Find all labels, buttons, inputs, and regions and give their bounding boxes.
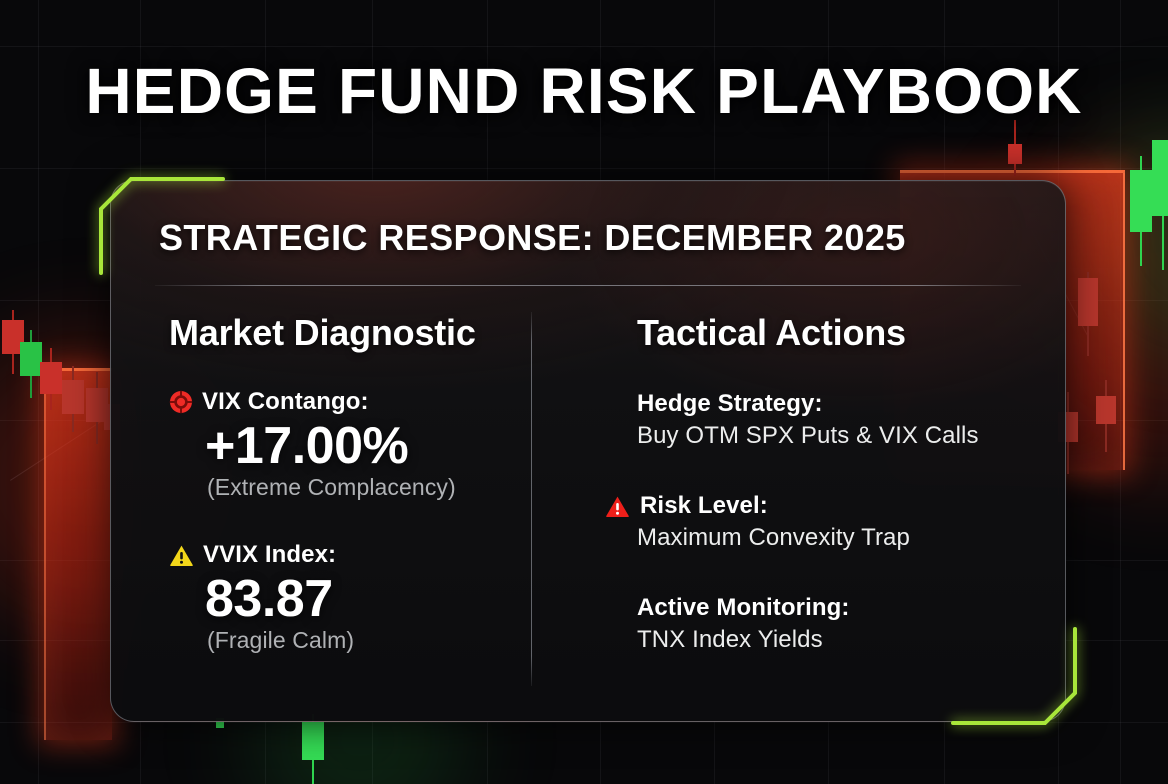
action-value: TNX Index Yields	[637, 626, 1053, 654]
candle-body	[40, 362, 62, 394]
metric-label-row: VIX Contango:	[169, 388, 587, 416]
action-value: Maximum Convexity Trap	[637, 524, 1053, 552]
metric-value: 83.87	[205, 571, 587, 627]
metric-note: (Fragile Calm)	[207, 627, 587, 654]
candle-body	[20, 342, 42, 376]
warning-triangle-red-icon	[605, 495, 630, 518]
action-label: Risk Level:	[640, 492, 768, 520]
card-columns: Market Diagnostic	[155, 312, 1021, 704]
action-label: Hedge Strategy:	[637, 390, 823, 418]
action-value: Buy OTM SPX Puts & VIX Calls	[637, 422, 1053, 450]
warning-triangle-yellow-icon	[169, 544, 194, 567]
tactical-actions-heading: Tactical Actions	[637, 312, 1053, 354]
action-risk-level: Risk Level: Maximum Convexity Trap	[637, 492, 1053, 552]
grid-line-horizontal	[0, 46, 1168, 47]
candle-body	[302, 722, 324, 760]
action-label-row: Risk Level:	[605, 492, 1053, 520]
market-diagnostic-heading: Market Diagnostic	[169, 312, 587, 354]
action-active-monitoring: Active Monitoring: TNX Index Yields	[637, 594, 1053, 654]
metric-vix-contango: VIX Contango: +17.00% (Extreme Complacen…	[169, 388, 587, 501]
grid-line-horizontal	[0, 168, 1168, 169]
metric-label: VVIX Index:	[203, 541, 336, 569]
candlestick	[20, 330, 42, 398]
candle-body	[1152, 140, 1168, 216]
candlestick	[302, 714, 324, 784]
candlestick	[1152, 140, 1168, 270]
action-label: Active Monitoring:	[637, 594, 849, 622]
metric-label-row: VVIX Index:	[169, 541, 587, 569]
candlestick	[40, 348, 62, 410]
title-divider	[155, 285, 1021, 286]
strategy-card: STRATEGIC RESPONSE: DECEMBER 2025 Market…	[110, 180, 1066, 722]
tactical-actions-column: Tactical Actions Hedge Strategy: Buy OTM…	[587, 312, 1053, 704]
card-title: STRATEGIC RESPONSE: DECEMBER 2025	[159, 217, 1021, 259]
candlestick	[1008, 120, 1022, 176]
poster-canvas: HEDGE FUND RISK PLAYBOOK STRATEGIC RESPO…	[0, 0, 1168, 784]
candle-body	[1130, 170, 1152, 232]
market-diagnostic-column: Market Diagnostic	[155, 312, 587, 704]
grid-line-horizontal	[0, 722, 1168, 723]
buoy-icon	[169, 390, 193, 414]
metric-note: (Extreme Complacency)	[207, 474, 587, 501]
column-divider	[531, 312, 532, 686]
action-label-row: Active Monitoring:	[637, 594, 1053, 622]
candle-body	[1096, 396, 1116, 424]
candlestick	[1078, 272, 1098, 356]
candle-body	[1008, 144, 1022, 164]
candlestick	[1096, 380, 1116, 452]
page-title: HEDGE FUND RISK PLAYBOOK	[0, 54, 1168, 128]
candle-body	[62, 380, 84, 414]
candlestick	[62, 366, 84, 432]
action-label-row: Hedge Strategy:	[637, 390, 1053, 418]
metric-vvix-index: VVIX Index: 83.87 (Fragile Calm)	[169, 541, 587, 654]
metric-value: +17.00%	[205, 418, 587, 474]
action-hedge-strategy: Hedge Strategy: Buy OTM SPX Puts & VIX C…	[637, 390, 1053, 450]
metric-label: VIX Contango:	[202, 388, 369, 416]
candle-body	[1078, 278, 1098, 326]
candlestick	[1130, 156, 1152, 266]
